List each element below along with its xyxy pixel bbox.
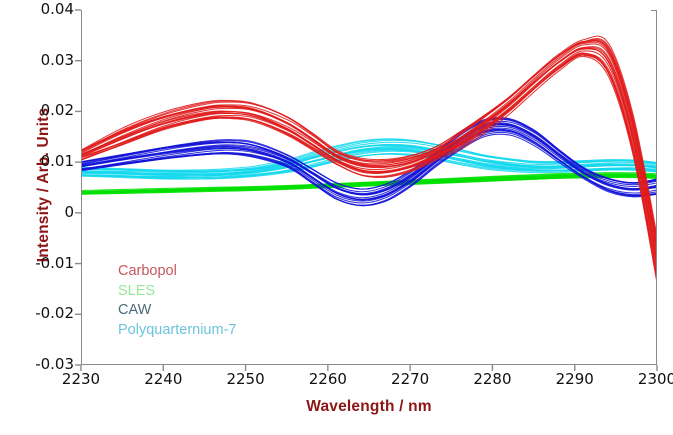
y-tick-label: 0.03	[20, 53, 74, 68]
x-tick-label: 2250	[211, 370, 281, 388]
y-tick-label: -0.01	[20, 256, 74, 271]
y-tick-label: 0.02	[20, 103, 74, 118]
y-tick-label: 0.01	[20, 154, 74, 169]
legend-item-carbopol: Carbopol	[118, 262, 236, 282]
legend-item-sles: SLES	[118, 282, 236, 302]
y-tick-label: 0	[20, 205, 74, 220]
y-tick-label: 0.04	[20, 2, 74, 17]
legend-item-polyquarternium-7: Polyquarternium-7	[118, 321, 236, 341]
x-axis-tick-labels: 22302240225022602270228022902300	[0, 370, 673, 392]
x-tick-label: 2280	[457, 370, 527, 388]
y-tick-label: -0.02	[20, 306, 74, 321]
legend: CarbopolSLESCAWPolyquarternium-7	[118, 262, 236, 340]
x-tick-label: 2270	[375, 370, 445, 388]
x-axis-title: Wavelength / nm	[81, 398, 657, 416]
spectra-figure: Intensity / Arb. Units 0.040.030.020.010…	[0, 0, 673, 435]
axis-right-spine	[656, 10, 657, 365]
x-tick-label: 2260	[293, 370, 363, 388]
legend-item-caw: CAW	[118, 301, 236, 321]
x-tick-label: 2290	[540, 370, 610, 388]
x-tick-label: 2230	[46, 370, 116, 388]
x-tick-label: 2300	[622, 370, 673, 388]
x-tick-label: 2240	[128, 370, 198, 388]
